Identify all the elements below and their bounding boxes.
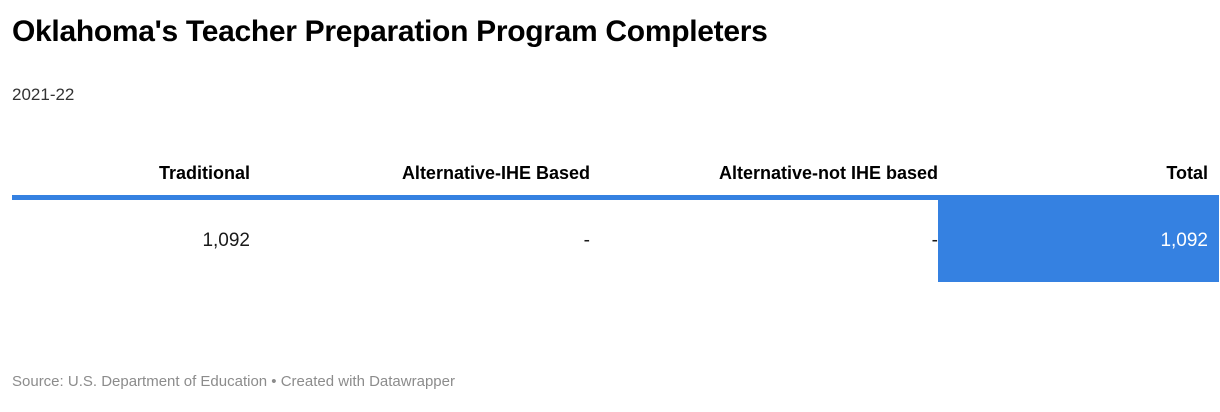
cell-total: 1,092 bbox=[938, 198, 1219, 283]
page-title: Oklahoma's Teacher Preparation Program C… bbox=[12, 14, 767, 50]
column-header-alternative-not-ihe-based: Alternative-not IHE based bbox=[590, 160, 938, 198]
footer-source-credit: Source: U.S. Department of Education • C… bbox=[12, 372, 455, 392]
table-header-row: Traditional Alternative-IHE Based Altern… bbox=[12, 160, 1219, 198]
table-row: 1,092 - - 1,092 bbox=[12, 198, 1219, 283]
column-header-alternative-ihe-based: Alternative-IHE Based bbox=[250, 160, 590, 198]
table-body: 1,092 - - 1,092 bbox=[12, 198, 1219, 283]
data-table: Traditional Alternative-IHE Based Altern… bbox=[12, 160, 1219, 282]
column-header-total: Total bbox=[938, 160, 1219, 198]
page-subtitle: 2021-22 bbox=[12, 84, 74, 106]
chart-container: Oklahoma's Teacher Preparation Program C… bbox=[0, 0, 1220, 412]
cell-alternative-ihe-based: - bbox=[250, 198, 590, 283]
table-header: Traditional Alternative-IHE Based Altern… bbox=[12, 160, 1219, 198]
column-header-traditional: Traditional bbox=[12, 160, 250, 198]
cell-alternative-not-ihe-based: - bbox=[590, 198, 938, 283]
cell-traditional: 1,092 bbox=[12, 198, 250, 283]
